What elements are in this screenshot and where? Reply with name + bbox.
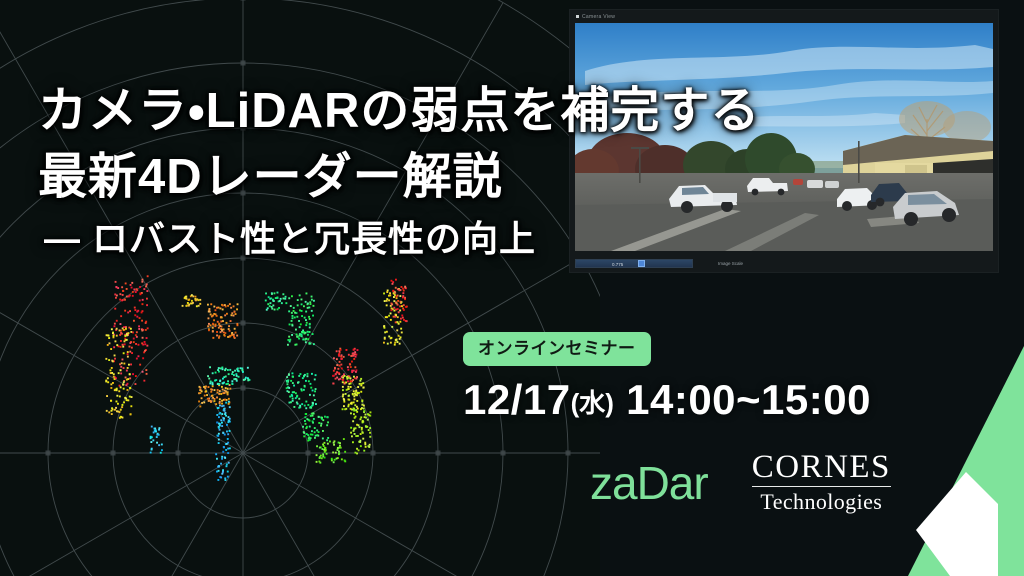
headline-subtitle: ― ロバスト性と冗長性の向上 [38,210,938,268]
zadar-logo: zaDar [590,457,708,509]
panel-bullet-icon [576,15,579,18]
headline-line-1: カメラ・LiDARの弱点を補完する [38,78,938,144]
white-wedge-shape [916,472,998,576]
camera-panel-title: Camera View [576,13,615,21]
camera-panel-title-label: Camera View [582,14,615,20]
cornes-logo-name: CORNES [752,450,891,487]
event-date: 12/17 [463,376,571,423]
status-badge: オンラインセミナー [463,332,651,366]
event-weekday: (水) [571,388,614,418]
headline-line-2: 最新4Dレーダー解説 [38,144,938,210]
event-datetime: 12/17(水) 14:00~15:00 [463,375,963,428]
cornes-logo: CORNES Technologies [752,450,891,515]
event-time: 14:00~15:00 [626,376,871,423]
logo-row: zaDar CORNES Technologies [590,450,891,515]
event-info-block: オンラインセミナー 12/17(水) 14:00~15:00 [463,332,963,428]
webinar-banner: Camera View [0,0,1024,576]
headline-block: カメラ・LiDARの弱点を補完する 最新4Dレーダー解説 ― ロバスト性と冗長性… [38,78,938,268]
cornes-logo-subtitle: Technologies [752,489,891,515]
